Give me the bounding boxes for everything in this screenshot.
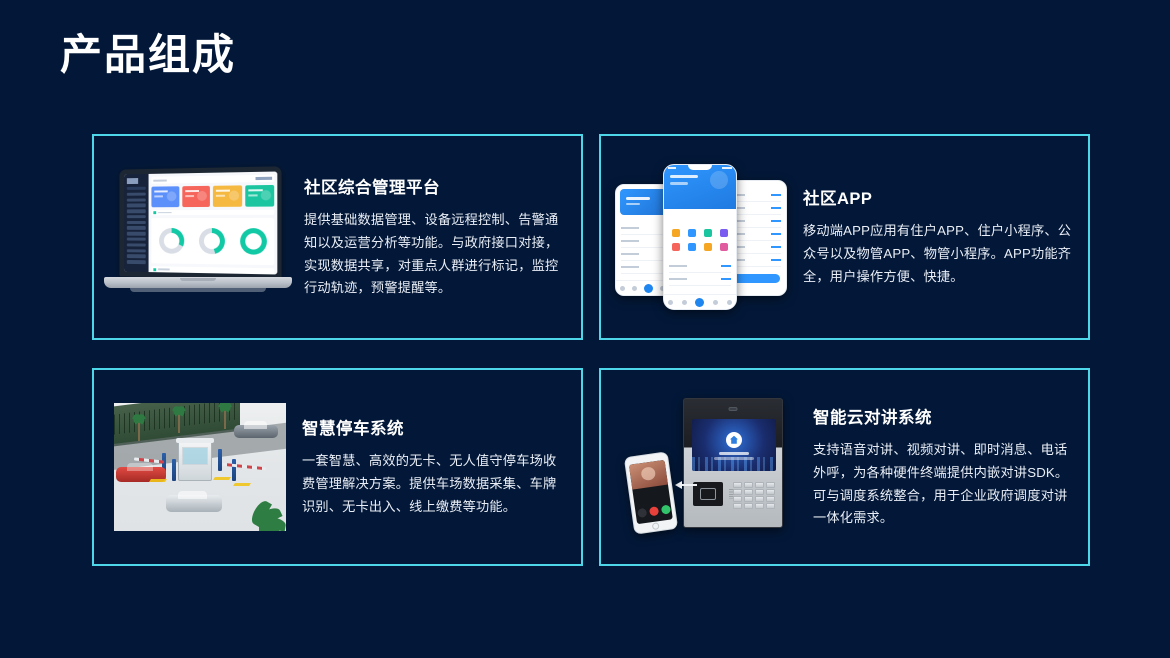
phones-mockup [611,158,789,316]
header-subtitle-placeholder [670,182,688,185]
intercom-scene [629,394,801,540]
header-title-placeholder [670,175,698,178]
keypad-key[interactable] [755,503,764,509]
keypad-key[interactable] [755,489,764,495]
row-label [669,278,687,280]
product-card-community-management-platform[interactable]: 社区综合管理平台 提供基础数据管理、设备远程控制、告警通知以及运营分析等功能。与… [92,134,583,340]
device-tagline-placeholder [714,457,754,459]
card-description: 支持语音对讲、视频对讲、即时消息、电话外呼，为各种硬件终端提供内嵌对讲SDK。可… [813,439,1074,530]
grid-icon-glyph [704,229,712,237]
grid-icon-glyph [672,229,680,237]
user-avatar [256,177,273,180]
tab-icon [682,300,687,305]
keypad-key[interactable] [744,496,753,502]
search-bar[interactable] [669,213,731,220]
kpi-card-teal [245,185,274,207]
arrow-shaft [680,484,697,486]
donut-chart [159,228,184,254]
product-card-cloud-intercom-system[interactable]: 智能云对讲系统 支持语音对讲、视频对讲、即时消息、电话外呼，为各种硬件终端提供内… [599,368,1090,566]
laptop-dashboard-image [100,162,296,312]
parking-lot-illustration [112,401,288,533]
card-text-block: 智慧停车系统 一套智慧、高效的无卡、无人值守停车场收费管理解决方案。提供车场数据… [288,415,581,518]
keypad-key[interactable] [744,482,753,488]
door-station-device [683,398,783,528]
row-label [669,265,687,267]
laptop-mockup [102,164,294,310]
mute-button[interactable] [637,508,647,518]
arrow-icon [675,480,701,490]
caller-avatar [629,460,668,490]
camera-icon [729,407,738,411]
keypad-key[interactable] [733,489,742,495]
keypad-key[interactable] [733,496,742,502]
tab-icon [727,300,732,305]
kpi-icon [166,191,176,201]
barrier-arm [222,463,266,471]
section-title-placeholder [158,212,171,214]
sidebar-item [127,249,146,253]
app-grid-icon[interactable] [685,229,698,240]
dashboard-sidebar [124,174,148,272]
section-marker-icon [153,268,156,271]
grid-icon-glyph [688,243,696,251]
keypad-key[interactable] [766,489,775,495]
sidebar-item [127,215,146,218]
app-header [664,165,736,209]
section-marker-icon [153,211,156,214]
card-text-block: 智能云对讲系统 支持语音对讲、视频对讲、即时消息、电话外呼，为各种硬件终端提供内… [803,404,1088,530]
kpi-icon [228,191,238,201]
tab-icon [632,286,637,291]
row-value [771,207,781,209]
tab-icon [620,286,625,291]
grid-icon-glyph [672,243,680,251]
gauge-chart-row [151,218,274,265]
app-icon-grid [664,224,736,257]
phone-notch [688,165,712,170]
page-title: 产品组成 [60,30,236,80]
sidebar-item [127,221,146,224]
sidebar-item [127,226,146,229]
card-text-block: 社区APP 移动端APP应用有住户APP、住户小程序、公众号以及物管APP、物管… [789,185,1088,288]
barrier-gate-post [172,459,176,481]
battery-indicator [722,167,732,169]
lane-marking [149,479,167,482]
video-call-screen [629,460,673,524]
app-grid-icon[interactable] [718,243,731,254]
mobile-phones-image [611,157,789,317]
home-logo-icon [726,432,742,448]
reject-call-button[interactable] [648,506,658,516]
row-value [771,220,781,222]
product-card-smart-parking-system[interactable]: 智慧停车系统 一套智慧、高效的无卡、无人值守停车场收费管理解决方案。提供车场数据… [92,368,583,566]
kpi-icon [197,191,207,201]
kpi-card-row [151,185,274,207]
tab-icon [668,300,673,305]
keypad-key[interactable] [744,489,753,495]
sidebar-item [127,260,146,264]
device-keypad[interactable] [733,482,775,509]
row-label [621,266,639,268]
kpi-card-orange [213,185,242,207]
list-item [669,260,731,273]
laptop-lid [119,166,281,279]
list-item [669,273,731,286]
device-screen [692,419,776,471]
kpi-icon [261,190,271,200]
tab-icon-active [695,298,704,307]
row-value [721,278,731,280]
palm-tree [218,403,232,429]
home-button[interactable] [652,522,660,530]
barrier-gate-post [218,449,222,471]
car-silver [234,425,278,438]
grid-icon-glyph [688,229,696,237]
card-title: 社区APP [803,185,1074,209]
keypad-key[interactable] [755,482,764,488]
card-title: 智慧停车系统 [302,415,567,439]
car-white [166,495,222,512]
grid-icon-glyph [704,243,712,251]
row-label [621,227,639,229]
keypad-key[interactable] [766,503,775,509]
app-notice-list [664,257,736,289]
row-label [621,240,639,242]
slide-root: 产品组成 [0,0,1170,658]
card-description: 移动端APP应用有住户APP、住户小程序、公众号以及物管APP、物管小程序。AP… [803,220,1074,288]
breadcrumb-placeholder [153,179,166,181]
mobile-phone-video-call [624,451,678,534]
laptop-base [104,277,292,288]
row-value [771,233,781,235]
laptop-screen [124,172,277,275]
keypad-key[interactable] [755,496,764,502]
keypad-key[interactable] [744,503,753,509]
dashboard-logo [127,178,146,184]
carrier-indicator [668,167,676,169]
parking-scene [114,403,286,531]
laptop-foot [130,288,266,292]
dashboard-toolbar [151,175,274,184]
row-value [771,259,781,261]
donut-chart [198,228,224,254]
card-title: 社区综合管理平台 [304,174,567,198]
keypad-key[interactable] [733,482,742,488]
row-label [621,253,639,255]
tab-bar [664,294,736,309]
keypad-key[interactable] [733,503,742,509]
app-grid-icon[interactable] [669,229,682,240]
barrier-gate-post [232,459,236,481]
card-description: 一套智慧、高效的无卡、无人值守停车场收费管理解决方案。提供车场数据采集、车牌识别… [302,450,567,518]
tab-icon [713,300,718,305]
lane-marking [233,483,251,486]
kpi-card-blue [151,186,178,207]
grid-icon-glyph [720,229,728,237]
palm-tree [132,415,146,441]
tab-icon-active [644,284,653,293]
section-header-secondary [151,266,274,274]
call-controls [635,504,672,518]
phone-center [663,164,737,310]
banner-title-placeholder [626,197,650,200]
grid-icon-glyph [720,243,728,251]
section-title-placeholder [158,269,170,271]
card-title: 智能云对讲系统 [813,404,1074,428]
intercom-device-image [627,392,803,542]
row-value [771,194,781,196]
sidebar-item [127,238,146,241]
accept-call-button[interactable] [660,505,670,515]
sidebar-item [127,198,146,201]
app-grid-icon[interactable] [669,243,682,254]
kpi-card-red [182,186,210,207]
app-grid-icon[interactable] [718,229,731,240]
donut-chart [240,228,267,255]
sidebar-item [127,255,146,259]
product-card-community-app[interactable]: 社区APP 移动端APP应用有住户APP、住户小程序、公众号以及物管APP、物管… [599,134,1090,340]
dashboard-main [149,172,278,275]
app-grid-icon[interactable] [685,243,698,254]
section-header [151,210,274,216]
sidebar-item [127,204,146,207]
sidebar-item [127,243,146,246]
row-value [771,246,781,248]
lane-marking [213,477,231,480]
keypad-key[interactable] [766,496,775,502]
sidebar-item [127,192,146,196]
palm-tree [172,407,186,433]
sidebar-item [127,232,146,235]
device-brand-placeholder [719,452,749,455]
app-grid-icon[interactable] [702,243,715,254]
product-card-grid: 社区综合管理平台 提供基础数据管理、设备远程控制、告警通知以及运营分析等功能。与… [92,134,1090,566]
card-description: 提供基础数据管理、设备远程控制、告警通知以及运营分析等功能。与政府接口对接，实现… [304,209,567,300]
palm-tree-foreground [232,489,286,531]
sidebar-item [127,209,146,212]
row-value [721,265,731,267]
sidebar-item [127,187,146,191]
card-text-block: 社区综合管理平台 提供基础数据管理、设备远程控制、告警通知以及运营分析等功能。与… [296,174,581,300]
banner-subtitle-placeholder [626,203,640,205]
app-grid-icon[interactable] [702,229,715,240]
guard-booth [178,441,212,481]
keypad-key[interactable] [766,482,775,488]
